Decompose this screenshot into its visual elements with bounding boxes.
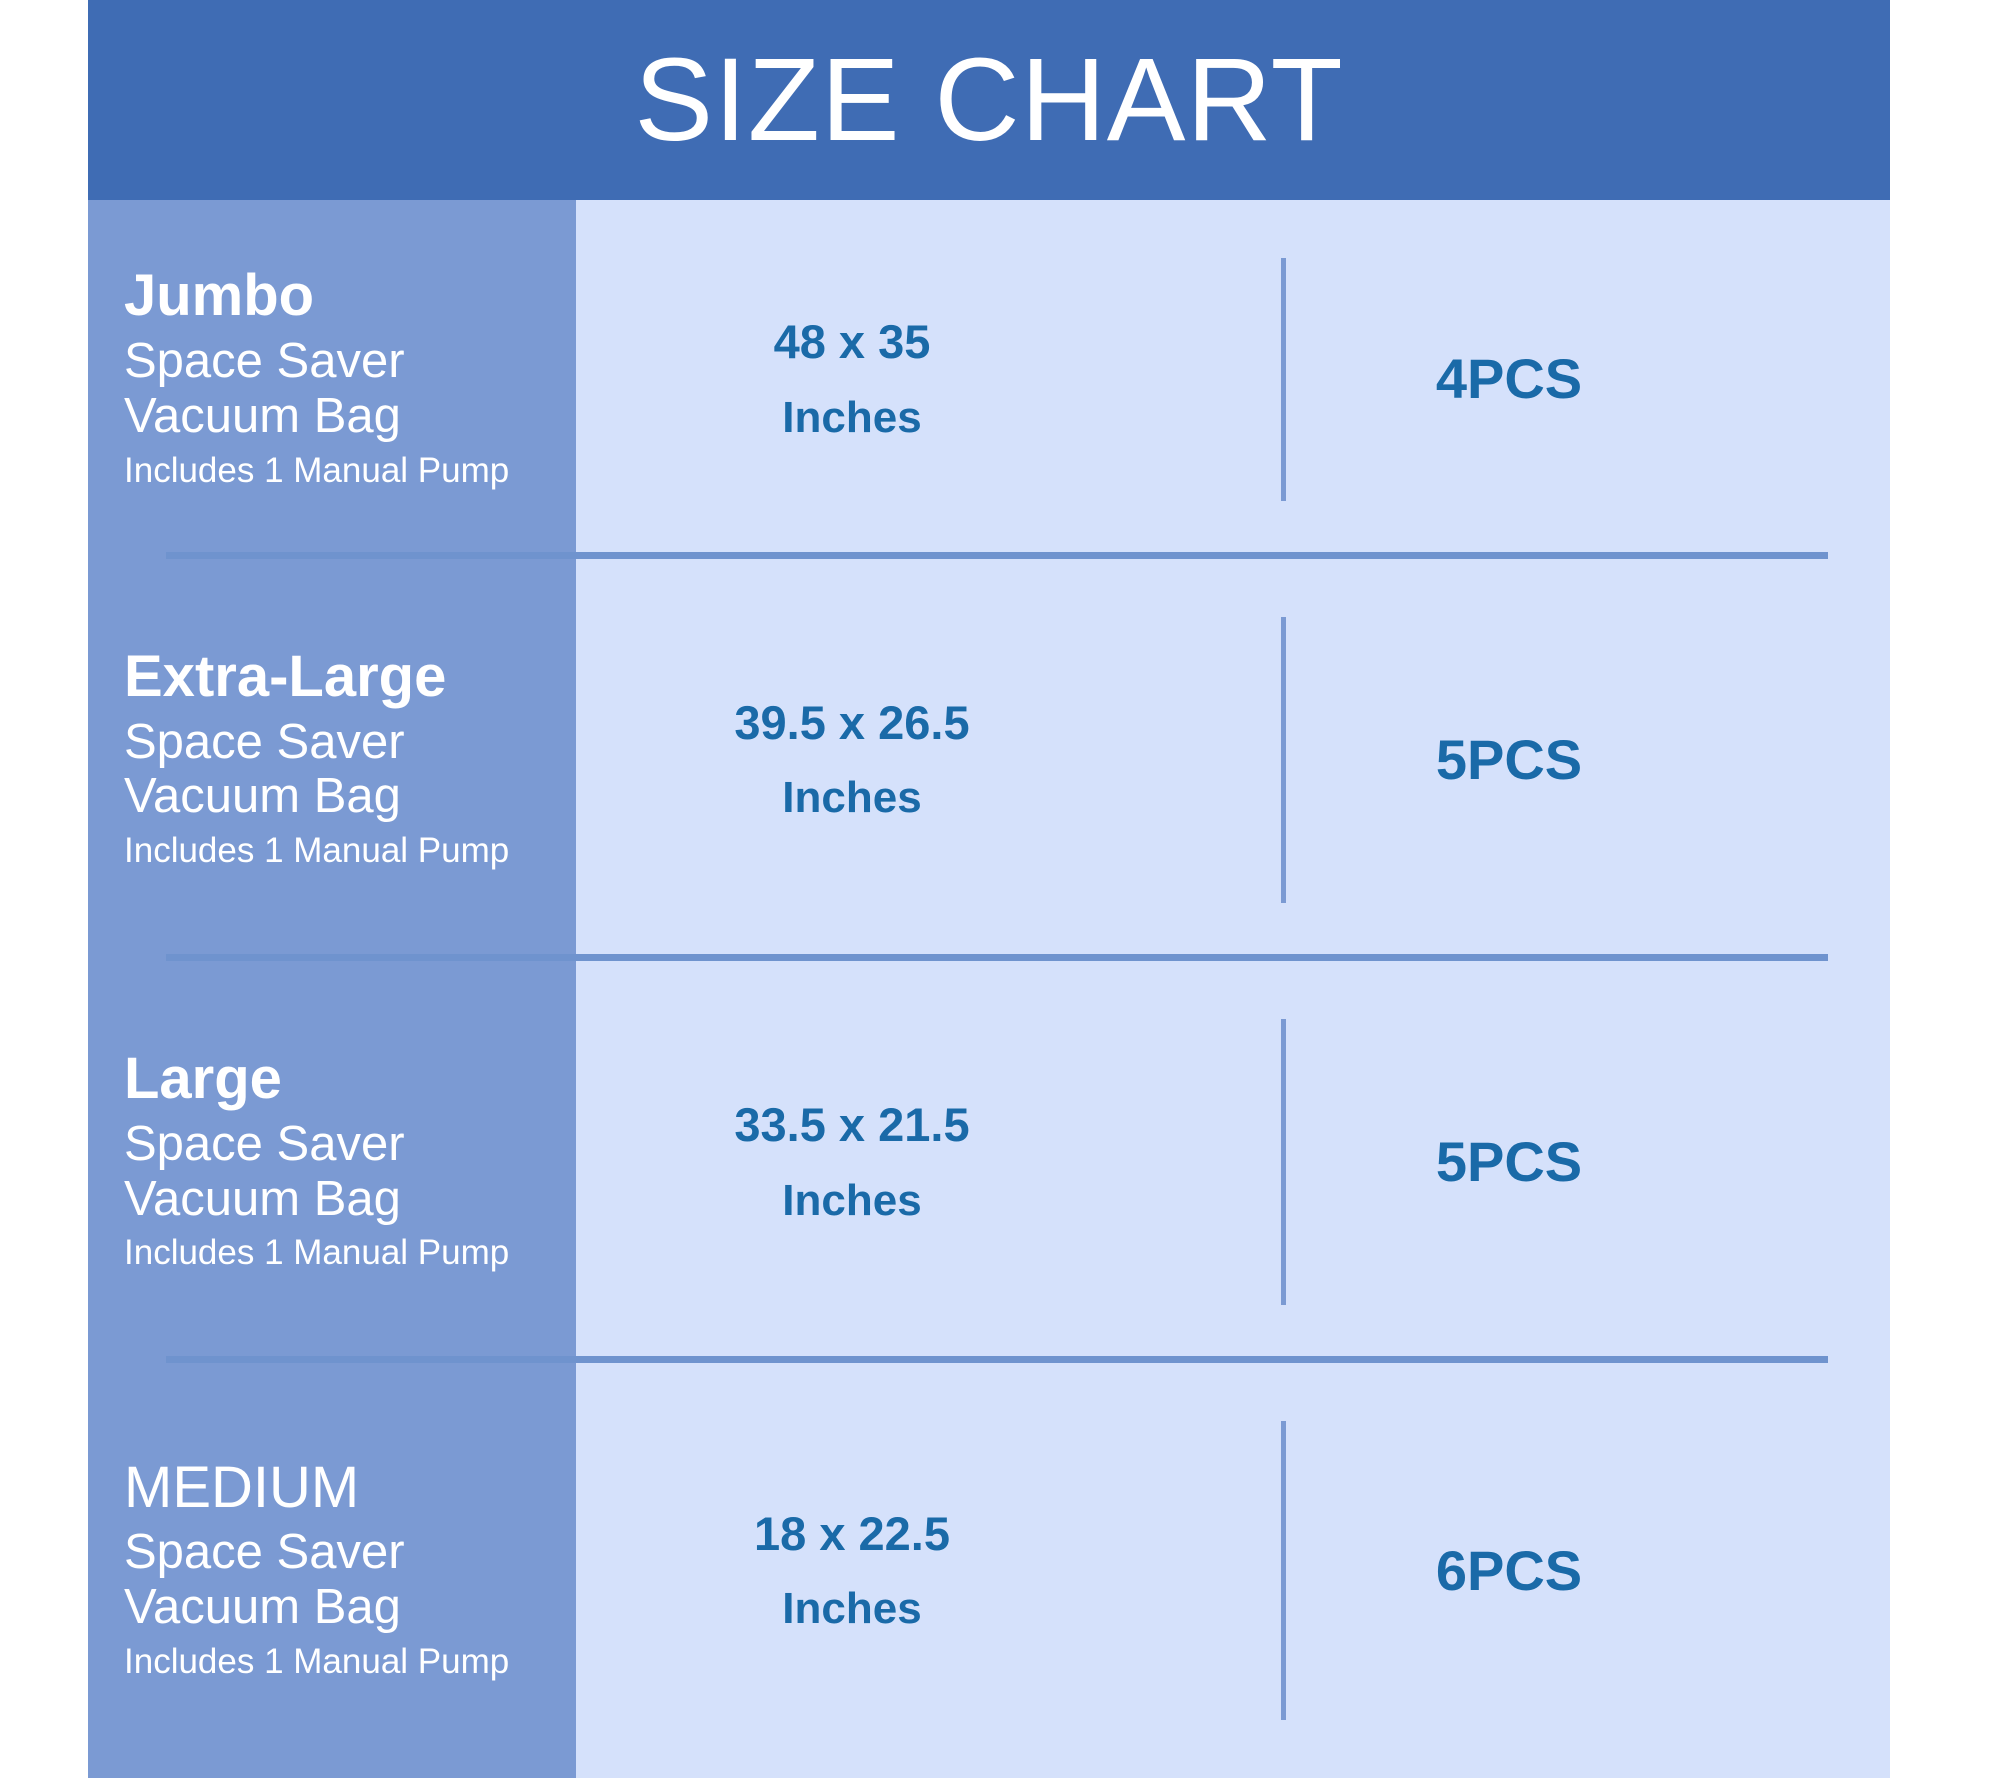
row-divider-horizontal (166, 552, 1828, 559)
quantity-value: 6PCS (1436, 1543, 1582, 1599)
product-line-2: Vacuum Bag (124, 1580, 576, 1635)
dimension-value: 39.5 x 26.5 (734, 697, 969, 749)
quantity-value: 5PCS (1436, 732, 1582, 788)
column-divider-vertical (1281, 1421, 1286, 1720)
includes-note: Includes 1 Manual Pump (124, 1639, 576, 1685)
size-name-cell: Large Space Saver Vacuum Bag Includes 1 … (88, 961, 576, 1363)
page-title: SIZE CHART (634, 41, 1343, 159)
size-label: Jumbo (124, 265, 576, 328)
size-name-cell: Extra-Large Space Saver Vacuum Bag Inclu… (88, 559, 576, 961)
column-divider-vertical (1281, 1019, 1286, 1305)
quantity-cell: 5PCS (1128, 961, 1890, 1363)
dimension-cell: 48 x 35 Inches (576, 200, 1128, 559)
includes-note: Includes 1 Manual Pump (124, 448, 576, 494)
dimension-unit: Inches (782, 1177, 921, 1225)
quantity-cell: 5PCS (1128, 559, 1890, 961)
size-label: MEDIUM (124, 1457, 576, 1520)
dimension-value: 33.5 x 21.5 (734, 1099, 969, 1151)
includes-note: Includes 1 Manual Pump (124, 828, 576, 874)
table-row: Extra-Large Space Saver Vacuum Bag Inclu… (88, 559, 1890, 961)
quantity-value: 5PCS (1436, 1134, 1582, 1190)
size-label: Large (124, 1048, 576, 1111)
size-name-cell: Jumbo Space Saver Vacuum Bag Includes 1 … (88, 200, 576, 559)
size-name-cell: MEDIUM Space Saver Vacuum Bag Includes 1… (88, 1363, 576, 1778)
table-row: MEDIUM Space Saver Vacuum Bag Includes 1… (88, 1363, 1890, 1778)
row-divider-horizontal (166, 1356, 1828, 1363)
size-label: Extra-Large (124, 646, 576, 709)
dimension-value: 18 x 22.5 (754, 1508, 950, 1560)
size-chart-page: SIZE CHART Jumbo Space Saver Vacuum Bag … (0, 0, 2000, 1778)
dimension-unit: Inches (782, 774, 921, 822)
dimension-cell: 33.5 x 21.5 Inches (576, 961, 1128, 1363)
header-band: SIZE CHART (88, 0, 1890, 200)
dimension-cell: 39.5 x 26.5 Inches (576, 559, 1128, 961)
product-line-1: Space Saver (124, 715, 576, 770)
product-line-2: Vacuum Bag (124, 769, 576, 824)
row-divider-horizontal (166, 954, 1828, 961)
column-divider-vertical (1281, 258, 1286, 501)
product-line-1: Space Saver (124, 1525, 576, 1580)
product-line-1: Space Saver (124, 1117, 576, 1172)
quantity-cell: 6PCS (1128, 1363, 1890, 1778)
dimension-cell: 18 x 22.5 Inches (576, 1363, 1128, 1778)
size-chart-table: Jumbo Space Saver Vacuum Bag Includes 1 … (88, 200, 1890, 1778)
column-divider-vertical (1281, 617, 1286, 903)
dimension-unit: Inches (782, 394, 921, 442)
product-line-1: Space Saver (124, 334, 576, 389)
quantity-value: 4PCS (1436, 351, 1582, 407)
product-line-2: Vacuum Bag (124, 1172, 576, 1227)
includes-note: Includes 1 Manual Pump (124, 1230, 576, 1276)
table-row: Large Space Saver Vacuum Bag Includes 1 … (88, 961, 1890, 1363)
product-line-2: Vacuum Bag (124, 389, 576, 444)
table-row: Jumbo Space Saver Vacuum Bag Includes 1 … (88, 200, 1890, 559)
dimension-value: 48 x 35 (774, 316, 931, 368)
dimension-unit: Inches (782, 1585, 921, 1633)
quantity-cell: 4PCS (1128, 200, 1890, 559)
